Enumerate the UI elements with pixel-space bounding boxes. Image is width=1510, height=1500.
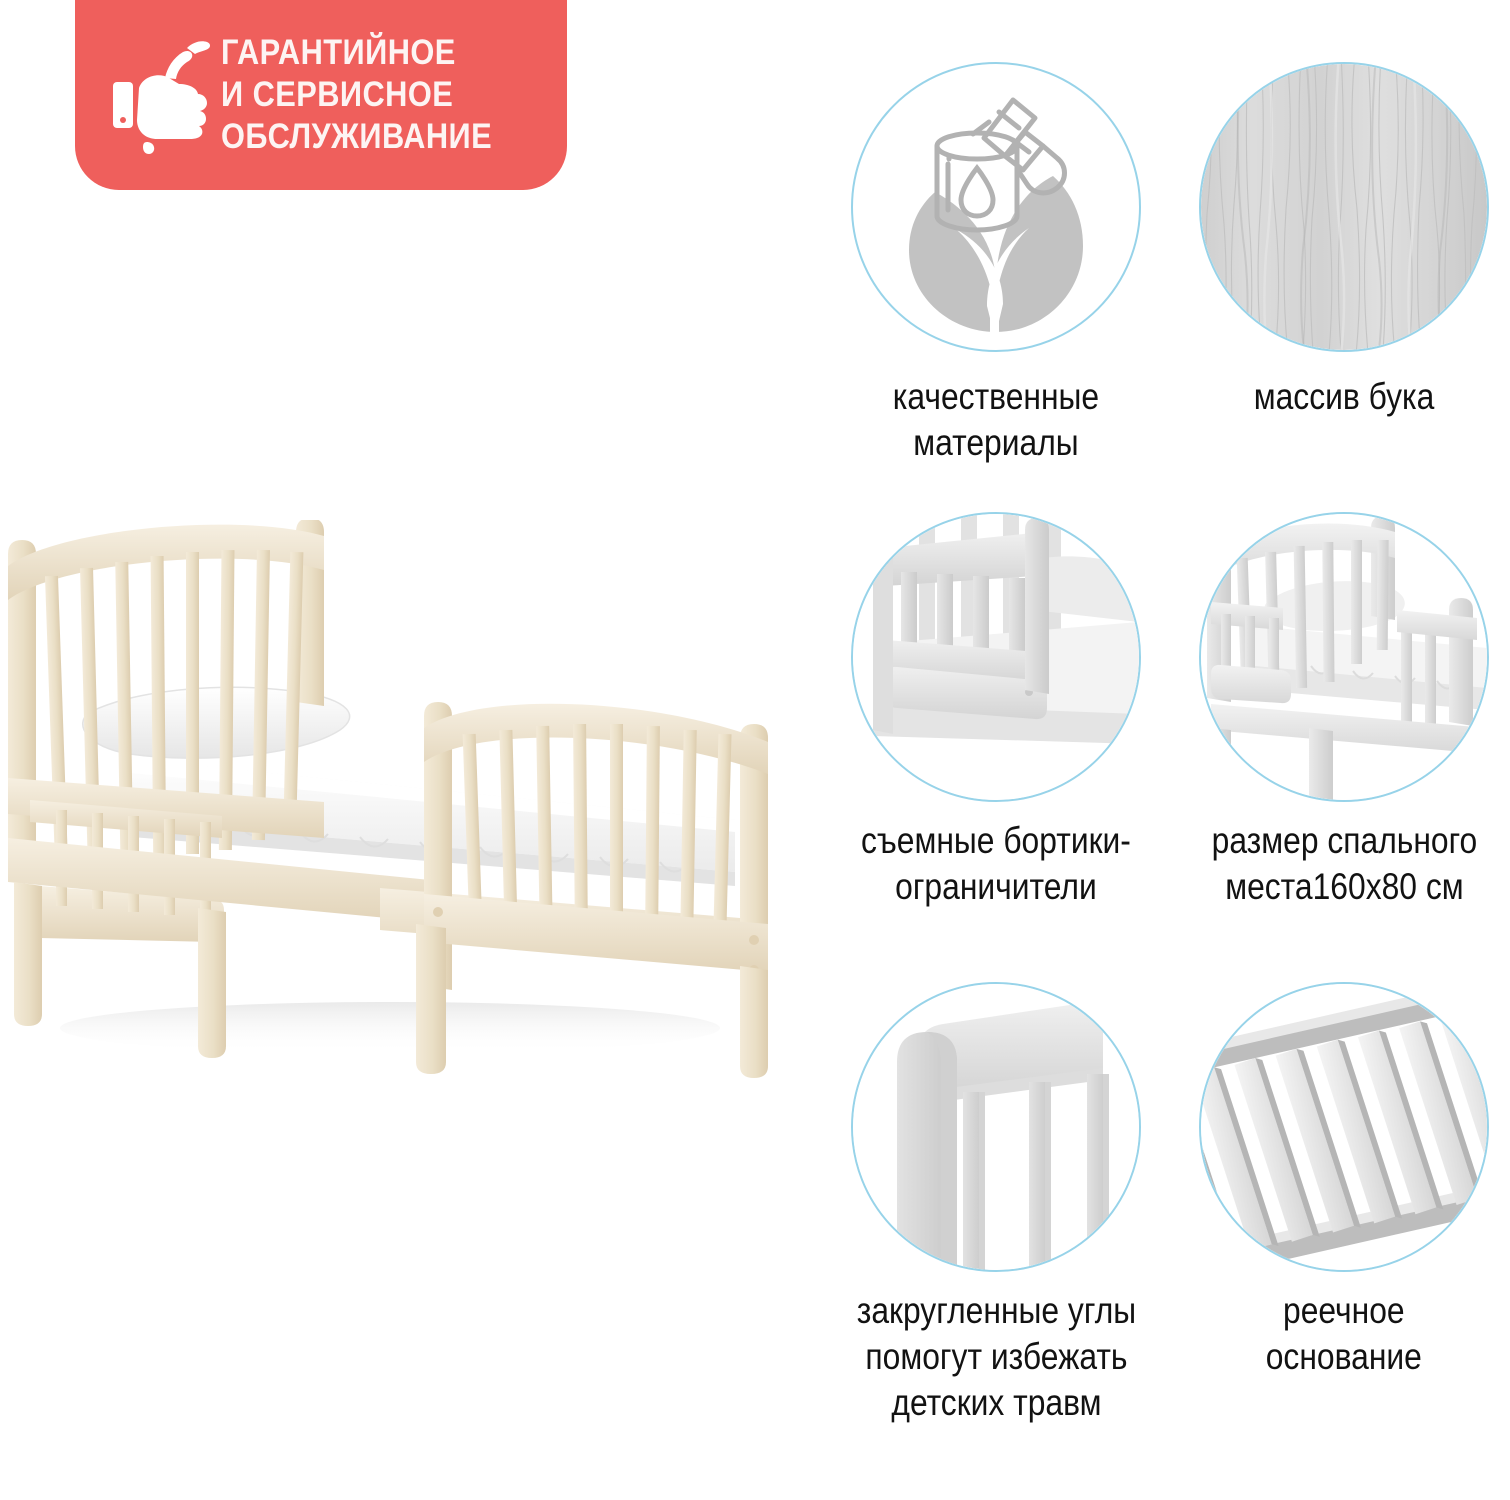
caption-line: места160х80 см [1211,864,1477,910]
caption-line: ограничители [861,864,1131,910]
feature-bed-size: размер спального места160х80 см [1178,512,1510,982]
feature-caption: размер спального места160х80 см [1211,818,1477,910]
caption-line: материалы [893,420,1099,466]
paint-can-leaf-icon [851,62,1141,352]
badge-line-3: ОБСЛУЖИВАНИЕ [221,116,492,158]
product-photo-bed [0,520,800,1080]
caption-line: детских травм [856,1380,1135,1426]
feature-caption: съемные бортики- ограничители [861,818,1131,910]
pointing-hand-icon [101,30,221,160]
bed-size-photo-icon [1199,512,1489,802]
feature-beech-wood: массив бука [1178,62,1510,512]
caption-line: размер спального [1211,818,1477,864]
rounded-corner-icon [851,982,1141,1272]
feature-caption: закругленные углы помогут избежать детск… [856,1288,1135,1426]
warranty-service-badge: ГАРАНТИЙНОЕ И СЕРВИСНОЕ ОБСЛУЖИВАНИЕ [75,0,567,190]
feature-rounded-corners: закругленные углы помогут избежать детск… [830,982,1162,1482]
caption-line: качественные [893,374,1099,420]
caption-line: закругленные углы [856,1288,1135,1334]
feature-caption: качественные материалы [893,374,1099,466]
removable-side-rail-icon [851,512,1141,802]
beech-wood-texture-icon [1199,62,1489,352]
caption-line: массив бука [1254,374,1435,420]
slatted-base-icon [1199,982,1489,1272]
badge-line-2: И СЕРВИСНОЕ [221,74,492,116]
feature-slatted-base: реечное основание [1178,982,1510,1482]
feature-removable-rails: съемные бортики- ограничители [830,512,1162,982]
caption-line: помогут избежать [856,1334,1135,1380]
badge-line-1: ГАРАНТИЙНОЕ [221,32,492,74]
feature-caption: реечное основание [1266,1288,1422,1380]
caption-line: съемные бортики- [861,818,1131,864]
feature-caption: массив бука [1254,374,1435,420]
feature-grid: качественные материалы [830,62,1510,1492]
caption-line: реечное [1266,1288,1422,1334]
caption-line: основание [1266,1334,1422,1380]
feature-quality-materials: качественные материалы [830,62,1162,512]
badge-text: ГАРАНТИЙНОЕ И СЕРВИСНОЕ ОБСЛУЖИВАНИЕ [221,32,492,158]
